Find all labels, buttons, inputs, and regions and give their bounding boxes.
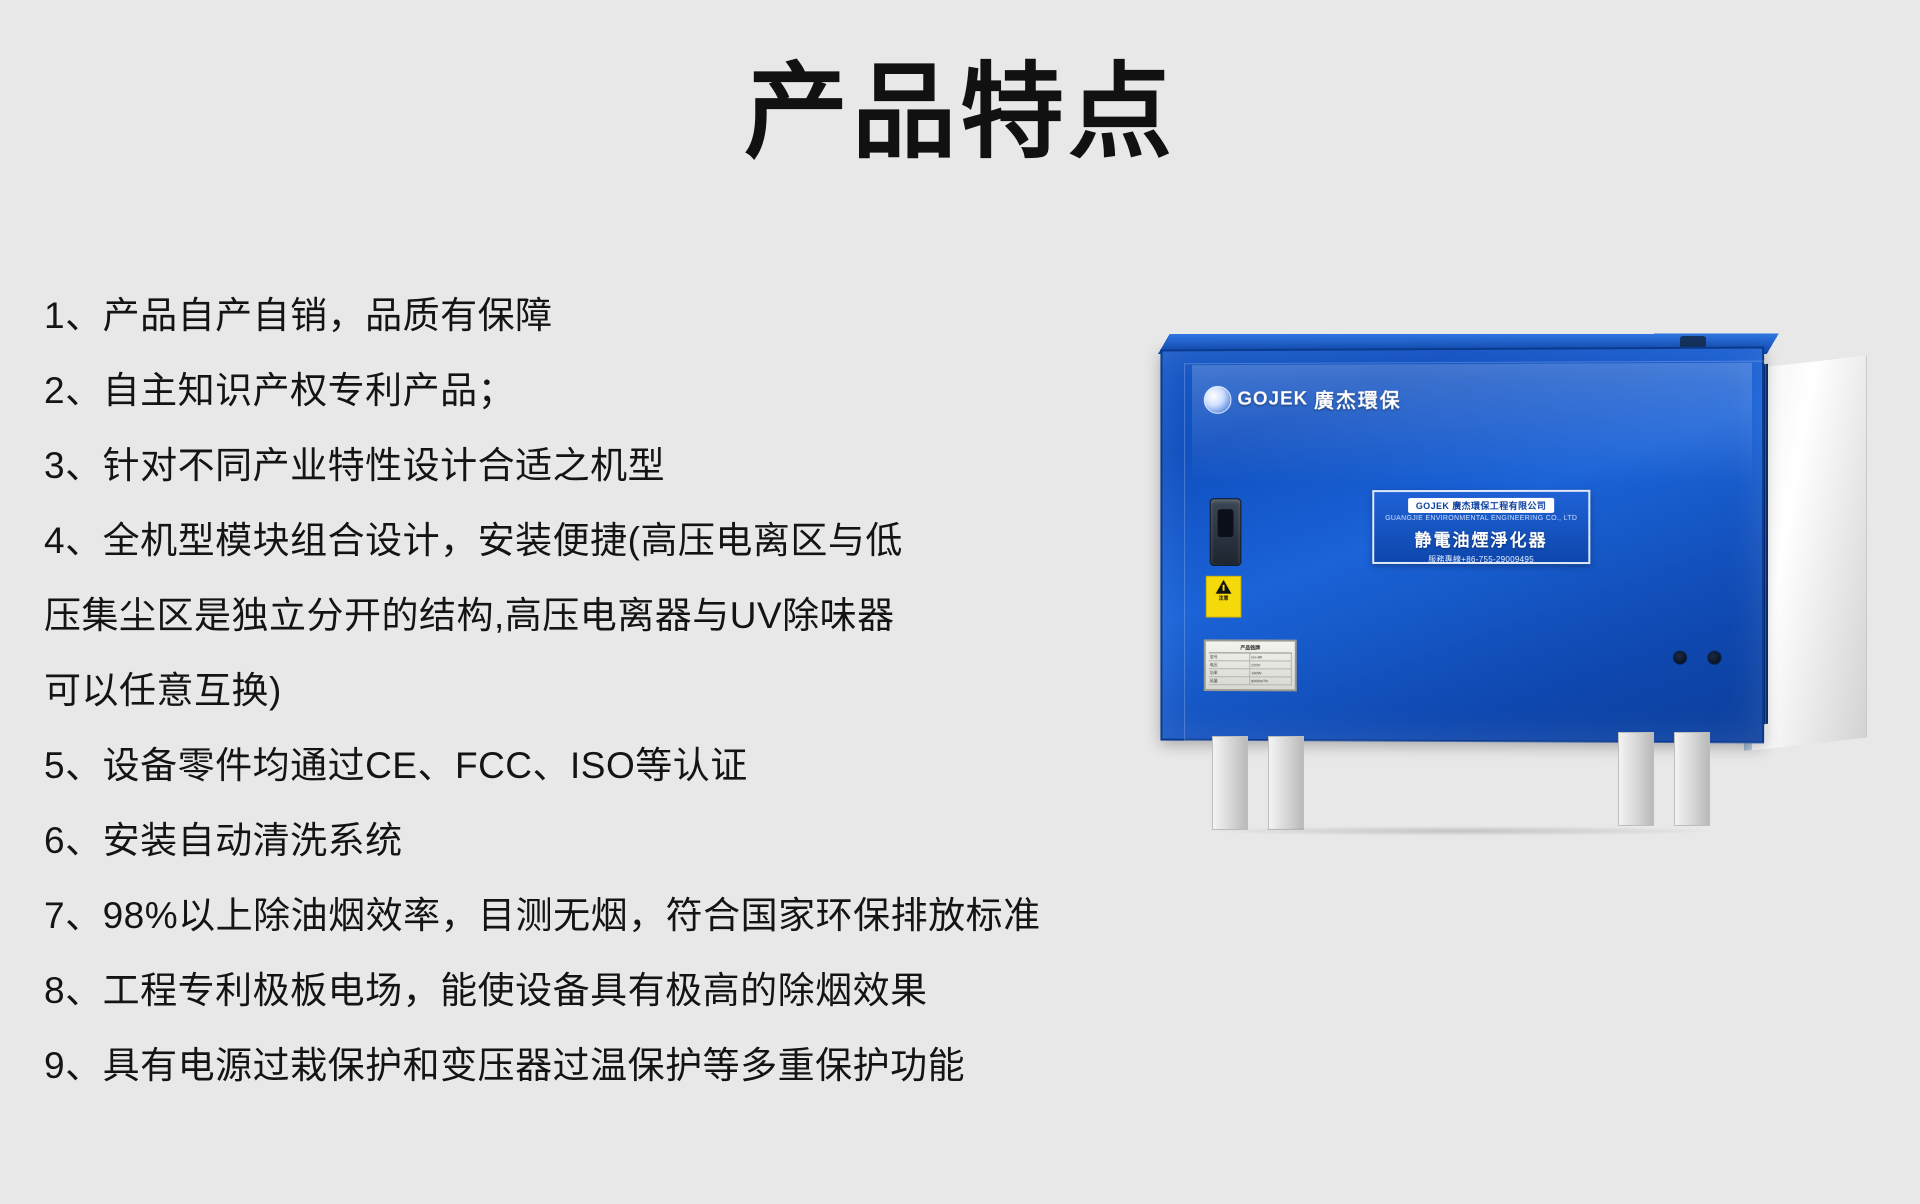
warning-triangle-icon [1216,580,1232,594]
warning-label: 注意 [1206,576,1242,618]
brand-logo-text: GOJEK [1237,388,1308,410]
nameplate-model-cn: 静電油煙淨化器 [1374,526,1588,551]
product-features-page: 产品特点 1、产品自产自销，品质有保障 2、自主知识产权专利产品； 3、针对不同… [0,0,1920,1204]
product-side-panel [1752,355,1867,750]
spec-cell: 功率 [1209,669,1250,677]
product-ground-shadow [1200,826,1720,836]
spec-cell: 电压 [1209,661,1250,669]
nameplate-hotline: 服務專線+86-755-29009495 [1374,554,1588,565]
brand-logo: GOJEK 廣杰環保 [1204,384,1402,414]
spec-cell: 8000m³/h [1250,677,1292,685]
indicator-hole-right [1707,651,1721,665]
spec-cell: GJ-8K [1250,653,1292,661]
spec-plate-grid: 型号 GJ-8K 电压 220V 功率 180W 风量 8000m³/h [1209,653,1292,685]
page-title: 产品特点 [0,52,1920,175]
brand-logo-cn-text: 廣杰環保 [1314,384,1401,413]
support-leg [1674,732,1710,826]
feature-item-8: 8、工程专利极板电场，能使设备具有极高的除烟效果 [44,953,1334,1028]
product-cabinet: GOJEK 廣杰環保 注意 GOJEK 廣杰環保工程有限公司 GUANGJIE … [1160,347,1764,744]
nameplate-company-en: GUANGJIE ENVIRONMENTAL ENGINEERING CO., … [1374,515,1588,522]
nameplate-company-cn: GOJEK 廣杰環保工程有限公司 [1408,498,1554,513]
spec-plate-title: 产品铭牌 [1209,644,1292,653]
door-handle [1210,498,1242,566]
spec-cell: 180W [1250,669,1292,677]
warning-label-text: 注意 [1219,596,1229,602]
feature-item-9: 9、具有电源过栽保护和变压器过温保护等多重保护功能 [44,1028,1334,1103]
spec-cell: 220V [1250,661,1292,669]
spec-cell: 风量 [1209,677,1250,685]
support-leg [1618,732,1654,826]
support-leg [1212,736,1248,830]
brand-mark-icon [1204,385,1232,413]
support-leg [1268,736,1304,830]
indicator-hole-left [1673,651,1687,665]
spec-cell: 型号 [1209,653,1250,661]
product-image: GOJEK 廣杰環保 注意 GOJEK 廣杰環保工程有限公司 GUANGJIE … [1140,340,1870,900]
product-nameplate: GOJEK 廣杰環保工程有限公司 GUANGJIE ENVIRONMENTAL … [1372,490,1590,564]
spec-plate: 产品铭牌 型号 GJ-8K 电压 220V 功率 180W 风量 8000m³/… [1204,639,1297,691]
